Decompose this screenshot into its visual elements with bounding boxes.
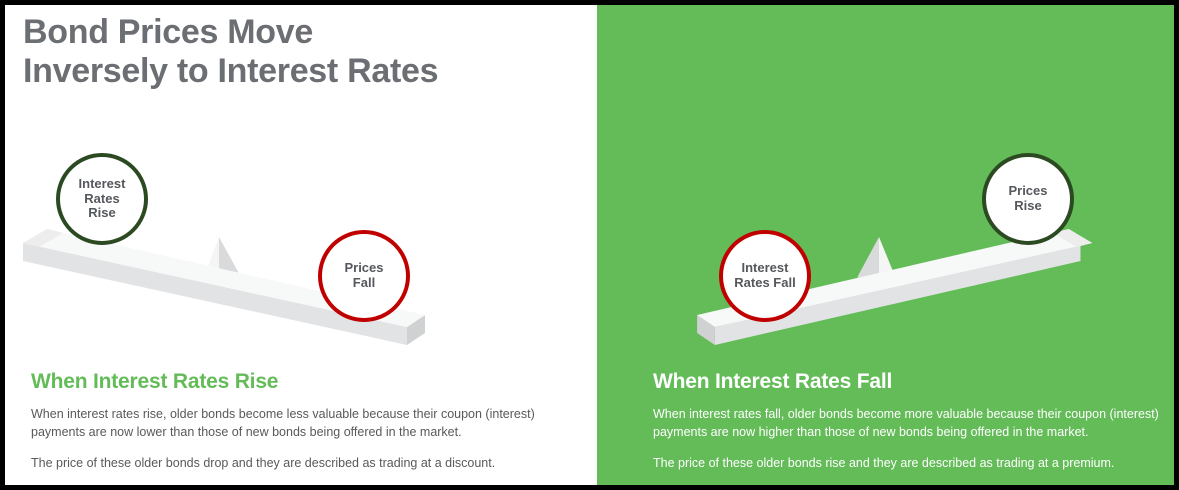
paragraph-rise-1: When interest rates rise, older bonds be… bbox=[31, 406, 571, 442]
bubble-line-1: Prices bbox=[1008, 183, 1047, 198]
copy-block-fall: When Interest Rates Fall When interest r… bbox=[653, 370, 1160, 485]
bubble-line-1: Prices bbox=[344, 260, 383, 275]
heading-when-rates-rise: When Interest Rates Rise bbox=[31, 370, 571, 394]
panel-interest-rates-rise: Bond Prices Move Inversely to Interest R… bbox=[5, 5, 597, 485]
bubble-prices-rise[interactable]: Prices Rise bbox=[982, 153, 1074, 245]
bubble-prices-fall-label: Prices Fall bbox=[344, 261, 383, 291]
page-title: Bond Prices Move Inversely to Interest R… bbox=[23, 13, 583, 92]
bubble-interest-rates-fall[interactable]: Interest Rates Fall bbox=[719, 230, 811, 322]
paragraph-fall-1: When interest rates fall, older bonds be… bbox=[653, 406, 1160, 442]
heading-when-rates-fall: When Interest Rates Fall bbox=[653, 370, 1160, 394]
bubble-interest-rates-fall-label: Interest Rates Fall bbox=[734, 261, 795, 291]
seesaw-svg-fall bbox=[597, 115, 1166, 360]
page-title-line-1: Bond Prices Move bbox=[23, 13, 583, 52]
bubble-line-1: Interest bbox=[79, 176, 126, 191]
copy-block-rise: When Interest Rates Rise When interest r… bbox=[31, 370, 571, 485]
bubble-line-2: Rates Fall bbox=[734, 275, 795, 290]
bubble-line-2: Fall bbox=[353, 275, 375, 290]
paragraph-fall-2: The price of these older bonds rise and … bbox=[653, 455, 1160, 473]
bubble-prices-fall[interactable]: Prices Fall bbox=[318, 230, 410, 322]
paragraph-rise-2: The price of these older bonds drop and … bbox=[31, 455, 571, 473]
bubble-line-2: Rates bbox=[84, 191, 119, 206]
bubble-prices-rise-label: Prices Rise bbox=[1008, 184, 1047, 214]
page-title-line-2: Inversely to Interest Rates bbox=[23, 52, 583, 91]
bubble-line-2: Rise bbox=[1014, 198, 1041, 213]
bubble-interest-rates-rise-label: Interest Rates Rise bbox=[79, 177, 126, 221]
bubble-line-1: Interest bbox=[742, 260, 789, 275]
bubble-line-3: Rise bbox=[88, 205, 115, 220]
infographic-root: Bond Prices Move Inversely to Interest R… bbox=[0, 0, 1179, 490]
seesaw-illustration-fall bbox=[597, 115, 1166, 360]
bubble-interest-rates-rise[interactable]: Interest Rates Rise bbox=[56, 153, 148, 245]
panel-interest-rates-fall: Interest Rates Fall Prices Rise When Int… bbox=[597, 5, 1174, 485]
